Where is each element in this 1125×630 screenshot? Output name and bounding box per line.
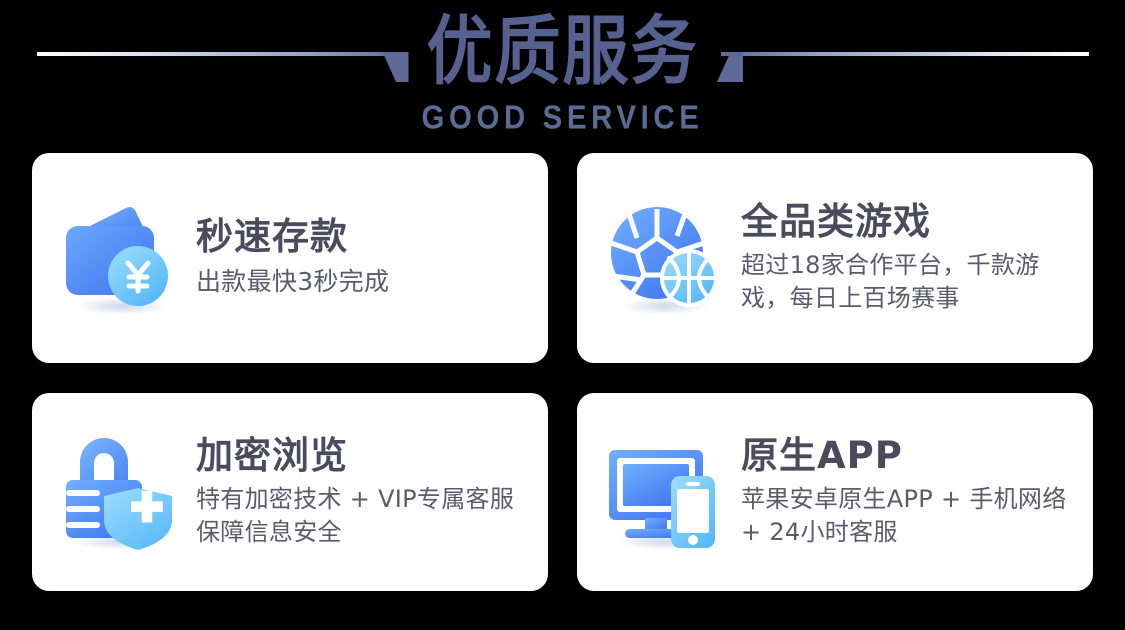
card-text: 秒速存款 出款最快3秒完成 bbox=[196, 216, 530, 299]
decorative-rule-right bbox=[721, 28, 1089, 76]
feature-card-games[interactable]: 全品类游戏 超过18家合作平台，千款游戏，每日上百场赛事 bbox=[577, 153, 1093, 363]
decorative-rule-left bbox=[37, 28, 405, 76]
header: 优质服务 GOOD SERVICE bbox=[0, 0, 1125, 148]
rule-line-left bbox=[37, 52, 405, 56]
card-description: 超过18家合作平台，千款游戏，每日上百场赛事 bbox=[741, 249, 1075, 315]
card-text: 全品类游戏 超过18家合作平台，千款游戏，每日上百场赛事 bbox=[741, 201, 1075, 316]
card-text: 原生APP 苹果安卓原生APP + 手机网络 + 24小时客服 bbox=[741, 435, 1075, 550]
feature-card-native-app[interactable]: 原生APP 苹果安卓原生APP + 手机网络 + 24小时客服 bbox=[577, 393, 1093, 591]
card-title: 全品类游戏 bbox=[741, 201, 1075, 244]
feature-card-grid: 秒速存款 出款最快3秒完成 bbox=[32, 153, 1093, 603]
feature-card-deposit[interactable]: 秒速存款 出款最快3秒完成 bbox=[32, 153, 548, 363]
lock-shield-icon bbox=[60, 432, 182, 552]
card-description: 特有加密技术 + VIP专属客服保障信息安全 bbox=[196, 483, 530, 549]
title-row: 优质服务 bbox=[0, 8, 1125, 96]
feature-card-encryption[interactable]: 加密浏览 特有加密技术 + VIP专属客服保障信息安全 bbox=[32, 393, 548, 591]
wallet-coin-icon bbox=[60, 198, 182, 318]
monitor-phone-icon bbox=[605, 432, 727, 552]
card-title: 秒速存款 bbox=[196, 216, 530, 259]
rule-line-right bbox=[721, 52, 1089, 56]
card-title: 加密浏览 bbox=[196, 435, 530, 478]
card-description: 出款最快3秒完成 bbox=[196, 265, 530, 300]
promo-banner: 优质服务 GOOD SERVICE bbox=[0, 0, 1125, 630]
page-subtitle: GOOD SERVICE bbox=[45, 99, 1080, 136]
rule-slash-right bbox=[717, 52, 743, 82]
card-description: 苹果安卓原生APP + 手机网络 + 24小时客服 bbox=[741, 483, 1075, 549]
card-title: 原生APP bbox=[741, 435, 1075, 478]
soccer-basketball-icon bbox=[605, 198, 727, 318]
page-title: 优质服务 bbox=[405, 14, 721, 89]
card-text: 加密浏览 特有加密技术 + VIP专属客服保障信息安全 bbox=[196, 435, 530, 550]
